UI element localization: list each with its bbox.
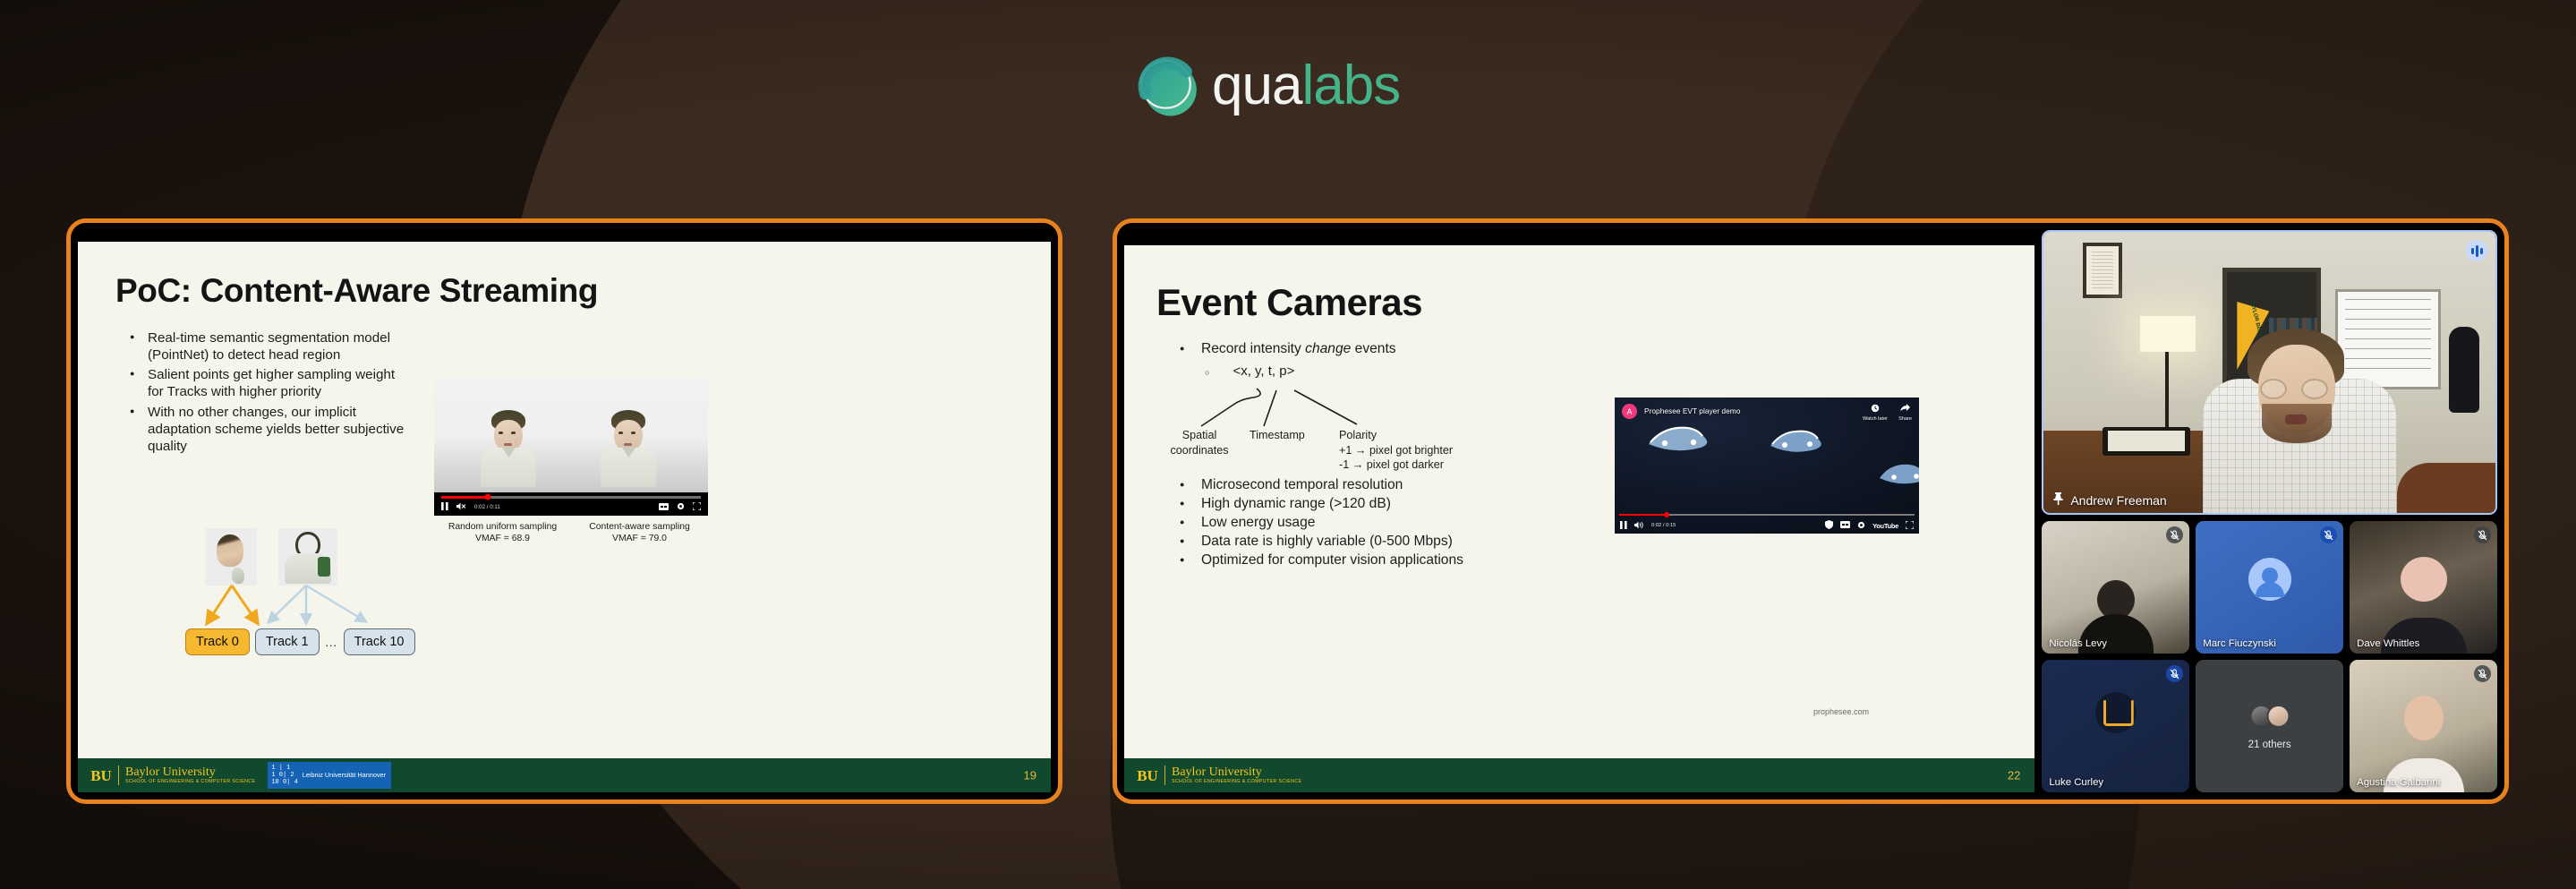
closed-captions-icon[interactable] (659, 503, 669, 512)
watch-later-label: Watch later (1863, 416, 1888, 422)
list-item: Optimized for computer vision applicatio… (1174, 551, 1595, 570)
leibniz-hannover-logo: 1 | 1 1 0| 2 10 0| 4 Leibniz Universität… (268, 762, 391, 789)
youtube-progress-fill (1619, 514, 1667, 516)
baylor-bu-icon: BU (90, 765, 112, 786)
qualabs-ring-icon (1130, 47, 1208, 125)
footer-school: SCHOOL OF ENGINEERING & COMPUTER SCIENCE (1172, 780, 1301, 785)
share-label: Share (1898, 416, 1912, 422)
muted-volume-icon[interactable] (456, 502, 466, 512)
track-ellipsis: … (325, 635, 338, 649)
video-progress-fill (441, 496, 488, 499)
track-arrows (185, 584, 418, 630)
youtube-embed-player[interactable]: A Prophesee EVT player demo Watch later (1615, 397, 1919, 534)
video-controls: 0:02 / 0:11 (441, 502, 701, 512)
video-comparison: 0:02 / 0:11 (434, 378, 708, 544)
participant-tile-nicolas-levy[interactable]: Nicolás Levy (2042, 521, 2189, 654)
caption-line1: Random uniform sampling (434, 521, 571, 533)
video-seek-handle[interactable] (485, 494, 491, 500)
left-slide-panel[interactable]: PoC: Content-Aware Streaming Real-time s… (66, 218, 1062, 804)
youtube-actions: Watch later Share (1863, 404, 1912, 422)
baylor-logo: BU Baylor University SCHOOL OF ENGINEERI… (1137, 765, 1301, 786)
bullet-emphasis: change (1305, 341, 1351, 356)
prophesee-watermark: prophesee.com (1813, 707, 1869, 716)
meet-participants-column: BAYLOR BEARS (2042, 230, 2497, 792)
bullet-pre: Record intensity (1201, 341, 1305, 356)
participant-name: Marc Fiuczynski (2203, 638, 2276, 649)
head-region-shape (217, 534, 243, 567)
person-render-random (481, 410, 536, 487)
list-item: Salient points get higher sampling weigh… (128, 366, 405, 400)
participant-name: Dave Whittles (2357, 638, 2419, 649)
person-eye-right (631, 432, 635, 434)
qualabs-wordmark: qua labs (1212, 58, 1400, 114)
caption-random-uniform: Random uniform sampling VMAF = 68.9 (434, 521, 571, 544)
mute-icon (2320, 526, 2337, 543)
list-item: With no other changes, our implicit adap… (128, 404, 405, 455)
polarity-negative: -1 → pixel got darker (1339, 457, 1453, 473)
youtube-seek-bar[interactable] (1619, 514, 1915, 516)
video-caption-row: Random uniform sampling VMAF = 68.9 Cont… (434, 521, 708, 544)
logo-text-labs: labs (1301, 58, 1400, 114)
footer-divider (118, 765, 119, 785)
footer-university: Baylor University (1172, 766, 1301, 780)
fullscreen-icon[interactable] (693, 502, 701, 512)
list-item: Low energy usage (1174, 514, 1595, 533)
list-item: Record intensity change events (1174, 340, 1595, 359)
youtube-header: A Prophesee EVT player demo Watch later (1615, 397, 1919, 428)
laptop (2103, 427, 2190, 456)
logo-text-qua: qua (1212, 58, 1301, 114)
segmentation-thumbnail-body (278, 528, 337, 586)
mute-icon (2474, 526, 2491, 543)
person-eye-left (499, 432, 503, 434)
youtube-control-bar: 0:02 / 0:15 (1615, 512, 1919, 534)
participant-tile-dave-whittles[interactable]: Dave Whittles (2350, 521, 2497, 654)
track-diagram: Track 0 Track 1 … Track 10 (185, 528, 418, 662)
video-control-bar: 0:02 / 0:11 (434, 492, 708, 516)
speaker-mouth (2285, 415, 2307, 424)
list-item: Data rate is highly variable (0-500 Mbps… (1174, 533, 1595, 551)
others-count-label: 21 others (2248, 739, 2291, 750)
person-mouth (624, 443, 632, 446)
right-presentation-panel[interactable]: Event Cameras Record intensity change ev… (1113, 218, 2509, 804)
event-tuple-diagram: Spatial coordinates Timestamp Polarity +… (1149, 360, 1606, 472)
left-slide-bullet-list: Real-time semantic segmentation model (P… (128, 329, 405, 457)
baylor-text: Baylor University SCHOOL OF ENGINEERING … (1172, 766, 1301, 784)
right-panel-inner: Event Cameras Record intensity change ev… (1124, 230, 2497, 792)
segmentation-thumbnail-head (205, 528, 257, 586)
bullet-post: events (1351, 341, 1395, 356)
watch-later-button[interactable]: Watch later (1863, 404, 1888, 422)
shield-icon[interactable] (1825, 520, 1833, 531)
audio-wave-icon (2466, 240, 2487, 261)
screen-root: qua labs PoC: Content-Aware Streaming Re… (0, 0, 2576, 889)
caption-line1: Content-aware sampling (571, 521, 708, 533)
hanging-coat (2449, 327, 2479, 413)
participant-tile-marc-fiuczynski[interactable]: Marc Fiuczynski (2196, 521, 2343, 654)
participant-name: Agustina Galbarini (2357, 777, 2440, 788)
caption-line2: VMAF = 79.0 (571, 533, 708, 544)
speaker-name-label: Andrew Freeman (2052, 492, 2166, 508)
youtube-video-title[interactable]: Prophesee EVT player demo (1644, 406, 1740, 415)
mute-icon (2474, 665, 2491, 682)
pin-icon[interactable] (2052, 492, 2064, 508)
caption-content-aware: Content-aware sampling VMAF = 79.0 (571, 521, 708, 544)
wave-bar (2480, 248, 2483, 254)
speaker-name-text: Andrew Freeman (2070, 493, 2166, 508)
participant-name: Nicolás Levy (2049, 638, 2107, 649)
list-item: Real-time semantic segmentation model (P… (128, 329, 405, 363)
list-item: High dynamic range (>120 dB) (1174, 495, 1595, 514)
slide-letterbox (78, 230, 1051, 242)
lamp-shade (2140, 316, 2196, 352)
footer-school: SCHOOL OF ENGINEERING & COMPUTER SCIENCE (125, 780, 255, 785)
avatar (2095, 692, 2137, 733)
wave-bar (2476, 245, 2478, 257)
right-slide-bullet-main: Record intensity change events (1174, 340, 1595, 359)
pause-icon[interactable] (1620, 521, 1627, 531)
annotation-polarity: Polarity +1 → pixel got brighter -1 → pi… (1339, 428, 1453, 473)
person-eye-right (511, 432, 516, 434)
left-slide-body: PoC: Content-Aware Streaming Real-time s… (78, 242, 1051, 758)
youtube-time-display: 0:02 / 0:15 (1651, 523, 1676, 528)
fullscreen-icon[interactable] (1906, 521, 1914, 531)
gear-icon[interactable] (677, 502, 685, 512)
slide-content-left: PoC: Content-Aware Streaming Real-time s… (78, 230, 1051, 792)
person-mouth (504, 443, 512, 446)
track-chip-0[interactable]: Track 0 (185, 628, 250, 655)
participant-tile-others[interactable]: 21 others (2196, 660, 2343, 792)
round-table (2397, 463, 2495, 515)
leibniz-name: Leibniz Universität Hannover (303, 771, 386, 779)
wall-diploma-frame (2083, 243, 2122, 298)
youtube-seek-handle[interactable] (1664, 512, 1669, 517)
volume-icon[interactable] (1634, 521, 1644, 531)
pause-icon[interactable] (441, 502, 448, 512)
head-fragment-shape (232, 568, 244, 584)
participant-tile-agustina-galbarini[interactable]: Agustina Galbarini (2350, 660, 2497, 792)
whiteboard (2335, 289, 2441, 389)
right-slide-footer: BU Baylor University SCHOOL OF ENGINEERI… (1124, 758, 2034, 792)
mute-icon (2166, 665, 2183, 682)
left-slide-footer: BU Baylor University SCHOOL OF ENGINEERI… (78, 758, 1051, 792)
left-slide-number: 19 (1024, 769, 1036, 782)
baylor-bu-icon: BU (1137, 765, 1158, 786)
participant-head (2401, 557, 2447, 602)
track-chip-10[interactable]: Track 10 (344, 628, 415, 655)
annotation-spatial-coordinates: Spatial coordinates (1153, 428, 1246, 457)
polarity-positive: +1 → pixel got brighter (1339, 443, 1453, 458)
participant-head (2404, 696, 2444, 740)
share-button[interactable]: Share (1898, 404, 1912, 422)
avatar (2248, 558, 2291, 601)
track-chip-1[interactable]: Track 1 (255, 628, 320, 655)
qualabs-logo: qua labs (1130, 47, 1400, 125)
right-slide-title: Event Cameras (1156, 281, 1422, 324)
right-slide-number: 22 (2008, 769, 2020, 782)
avatar (2266, 705, 2290, 728)
wave-bar (2471, 248, 2474, 254)
participant-name: Luke Curley (2049, 777, 2103, 788)
slide-letterbox (1124, 230, 2034, 245)
baylor-text: Baylor University SCHOOL OF ENGINEERING … (125, 766, 255, 784)
event-annotation-lines (1149, 372, 1606, 428)
list-item: Microsecond temporal resolution (1174, 476, 1595, 495)
footer-divider (1164, 765, 1165, 785)
footer-university: Baylor University (125, 766, 255, 780)
video-time-display: 0:02 / 0:11 (474, 504, 500, 510)
left-slide-title: PoC: Content-Aware Streaming (115, 272, 598, 310)
right-slide-bullet-list: Microsecond temporal resolution High dyn… (1174, 476, 1595, 569)
body-patch-shape (318, 557, 330, 577)
closed-captions-icon[interactable] (1840, 521, 1850, 530)
left-panel-inner: PoC: Content-Aware Streaming Real-time s… (78, 230, 1051, 792)
clock-icon (1871, 404, 1880, 415)
event-car-render-3 (1876, 457, 1919, 487)
track-chip-row: Track 0 Track 1 … Track 10 (185, 628, 415, 655)
person-eye-left (618, 432, 623, 434)
active-speaker-tile[interactable]: BAYLOR BEARS (2042, 230, 2497, 515)
caption-line2: VMAF = 68.9 (434, 533, 571, 544)
channel-avatar[interactable]: A (1622, 404, 1637, 419)
gear-icon[interactable] (1857, 521, 1865, 531)
baylor-logo: BU Baylor University SCHOOL OF ENGINEERI… (90, 765, 255, 786)
video-seek-bar[interactable] (441, 496, 701, 499)
others-avatar-stack (2249, 705, 2290, 728)
slide-content-right: Event Cameras Record intensity change ev… (1124, 230, 2034, 792)
right-slide-body: Event Cameras Record intensity change ev… (1124, 245, 2034, 758)
video-frame (434, 378, 708, 492)
youtube-logo[interactable]: YouTube (1872, 522, 1898, 530)
video-player-left[interactable]: 0:02 / 0:11 (434, 378, 708, 516)
youtube-controls: 0:02 / 0:15 (1620, 520, 1914, 531)
person-render-content-aware (601, 410, 656, 487)
mute-icon (2166, 526, 2183, 543)
annotation-timestamp: Timestamp (1250, 428, 1305, 443)
participant-tile-luke-curley[interactable]: Luke Curley (2042, 660, 2189, 792)
polarity-title: Polarity (1339, 428, 1453, 443)
share-icon (1900, 404, 1910, 415)
participant-grid: Nicolás Levy Marc Fiuczynski (2042, 521, 2497, 792)
lamp-pole (2165, 352, 2169, 438)
leibniz-digits: 1 | 1 1 0| 2 10 0| 4 (271, 765, 297, 786)
